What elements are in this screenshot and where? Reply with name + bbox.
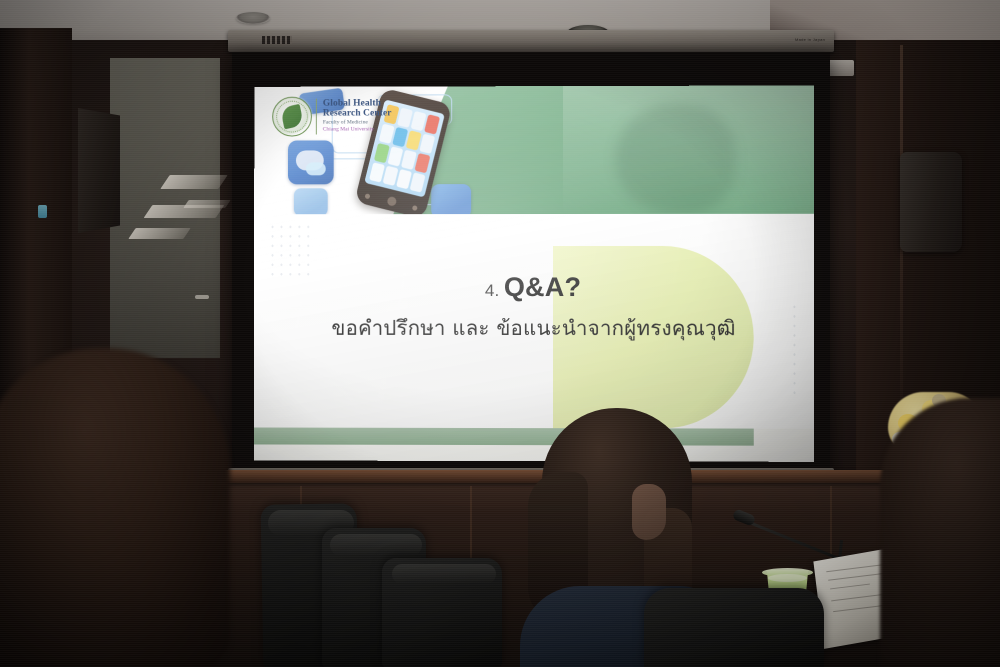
ceiling-downlight-icon	[236, 12, 270, 24]
slide-footer-cap	[754, 429, 814, 446]
logo-leaf-icon	[280, 104, 304, 130]
slide-header-band: Global Health Research Center Faculty of…	[254, 85, 814, 214]
slide-title-block: 4. Q&A? ขอคำปรึกษา และ ข้อแนะนำจากผู้ทรง…	[254, 272, 814, 345]
logo-line-2: Research Center	[323, 110, 392, 120]
reflected-light-spot	[195, 295, 209, 299]
chair-highlight	[330, 534, 422, 556]
app-icon	[414, 153, 430, 173]
bubble-shape	[306, 162, 326, 175]
housing-tag-text: Made in Japan	[795, 37, 825, 42]
speaker-left	[78, 108, 120, 233]
app-icon	[410, 172, 426, 192]
lapel-badge	[38, 205, 47, 218]
ceiling-reflection	[183, 200, 230, 208]
presentation-slide: Global Health Research Center Faculty of…	[254, 85, 814, 461]
app-icon	[424, 114, 440, 134]
face-profile	[632, 484, 666, 540]
organization-logo: Global Health Research Center Faculty of…	[272, 94, 399, 138]
slide-subtitle-thai: ขอคำปรึกษา และ ข้อแนะนำจากผู้ทรงคุณวุฒิ	[254, 312, 814, 345]
foreground-person-right	[880, 398, 1000, 667]
logo-text-block: Global Health Research Center Faculty of…	[321, 100, 392, 133]
conference-room-scene: Made in Japan	[0, 0, 1000, 667]
chat-bubble-icon	[288, 140, 334, 184]
logo-line-4: Chiang Mai University	[323, 127, 392, 133]
phone-sensor-icon	[412, 205, 418, 211]
ceiling-reflection	[128, 228, 190, 239]
foreground-person-left	[0, 348, 230, 667]
blue-node-icon	[294, 188, 328, 214]
housing-label-icon	[262, 36, 292, 44]
app-icon	[419, 134, 435, 154]
cup-foam	[768, 574, 807, 582]
header-shadow-blob	[615, 104, 735, 214]
speaker-right	[900, 152, 962, 252]
ceiling-reflection	[160, 175, 227, 189]
slide-title-text: Q&A?	[504, 272, 581, 302]
logo-divider	[316, 99, 317, 135]
phone-sensor-icon	[364, 193, 370, 199]
logo-seal-icon	[272, 97, 312, 137]
chair-back	[644, 588, 824, 667]
phone-home-button	[386, 196, 397, 207]
blue-node-icon	[431, 184, 471, 214]
slide-title-line: 4. Q&A?	[254, 272, 814, 303]
slide-title-number: 4.	[485, 281, 500, 300]
projector-screen-housing	[228, 30, 834, 52]
chair-highlight	[392, 564, 496, 584]
